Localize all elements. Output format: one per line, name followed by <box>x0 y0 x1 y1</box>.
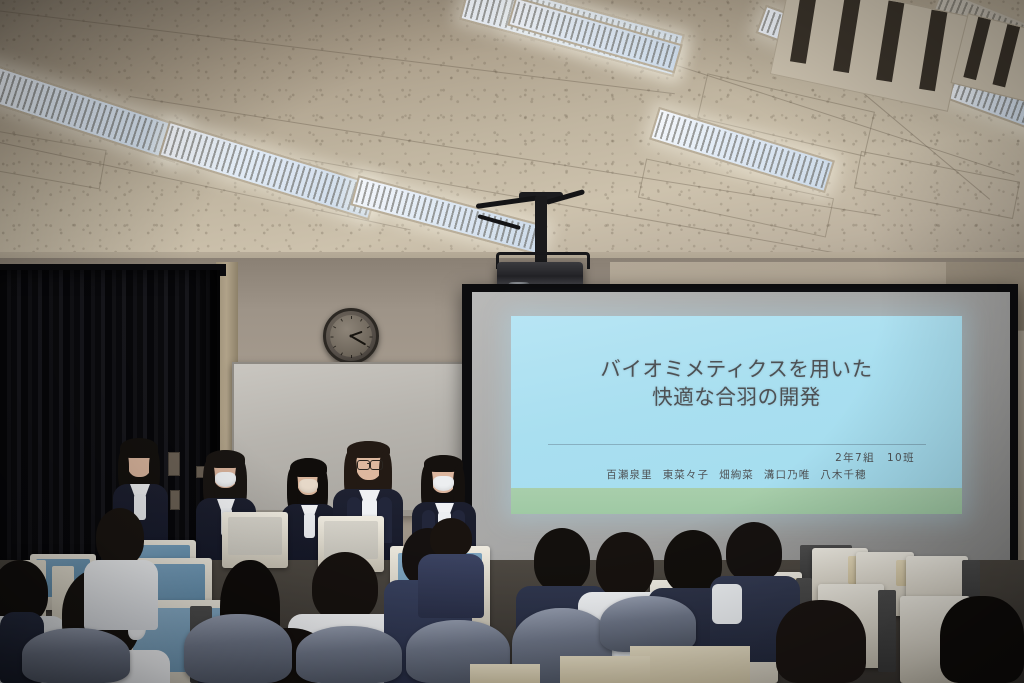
torso <box>84 560 158 630</box>
presenter-name: 畑絢菜 <box>719 469 754 481</box>
slide-accent-band <box>511 488 962 514</box>
slide-title: バイオミメティクスを用いた 快適な合羽の開発 <box>511 355 962 411</box>
presenter-name: 百瀬泉里 <box>606 469 652 481</box>
slide-title-line-2: 快適な合羽の開発 <box>511 383 962 411</box>
classroom-chair[interactable] <box>22 628 130 683</box>
glasses-bridge <box>367 463 371 464</box>
hair <box>534 528 590 592</box>
face-mask <box>433 476 454 491</box>
presenter-name: 溝口乃唯 <box>764 469 810 481</box>
torso <box>418 554 484 618</box>
shirt-collar <box>712 584 742 624</box>
face-mask <box>215 472 236 487</box>
monitor-screen <box>228 517 282 555</box>
classroom-chair[interactable] <box>184 614 292 683</box>
presenter-name: 東菜々子 <box>663 469 709 481</box>
slide-class-label: 2年7組 10班 <box>835 450 915 465</box>
presenter-name: 八木千穂 <box>820 469 866 481</box>
hair <box>726 522 782 582</box>
glasses-right-lens <box>370 460 383 470</box>
hair <box>776 600 866 683</box>
classroom-chair[interactable] <box>600 596 696 652</box>
glasses-left-lens <box>357 460 370 470</box>
hair <box>312 552 378 622</box>
wall-notice-3 <box>170 490 180 510</box>
computer-desk <box>470 664 540 683</box>
hair <box>596 532 654 598</box>
presentation-slide: バイオミメティクスを用いた 快適な合羽の開発 2年7組 10班 百瀬泉里東菜々子… <box>511 316 962 514</box>
slide-title-line-1: バイオミメティクスを用いた <box>511 355 962 383</box>
hair <box>940 596 1024 683</box>
computer-desk <box>560 656 650 683</box>
clock-face <box>330 315 372 357</box>
clock-minute-hand <box>351 335 367 345</box>
hair <box>96 508 144 566</box>
hair <box>430 518 472 558</box>
classroom-chair[interactable] <box>296 626 402 683</box>
face-mask <box>299 479 318 493</box>
crt-monitor-side <box>878 590 896 672</box>
wall-clock <box>323 308 379 364</box>
slide-presenter-names: 百瀬泉里東菜々子畑絢菜溝口乃唯八木千穂 <box>511 467 962 482</box>
blouse-front <box>304 513 315 538</box>
wall-notice-2 <box>168 452 180 476</box>
classroom-photo-scene: バイオミメティクスを用いた 快適な合羽の開発 2年7組 10班 百瀬泉里東菜々子… <box>0 0 1024 683</box>
slide-divider-rule <box>548 444 926 445</box>
